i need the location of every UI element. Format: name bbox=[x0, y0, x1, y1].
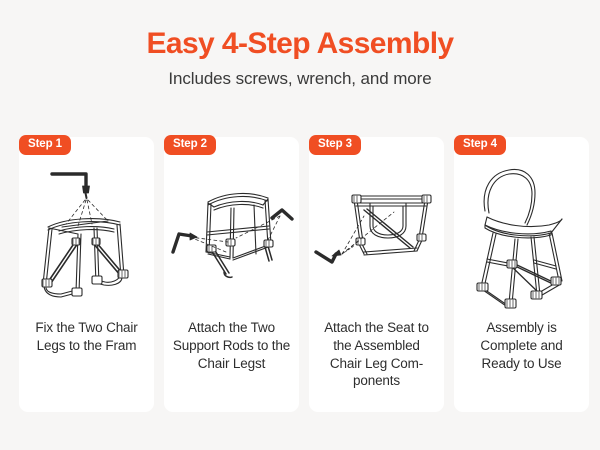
step-card-1[interactable]: Step 1 bbox=[19, 137, 154, 412]
step-card-3[interactable]: Step 3 bbox=[309, 137, 444, 412]
step-badge-2: Step 2 bbox=[164, 135, 216, 155]
header: Easy 4-Step Assembly Includes screws, wr… bbox=[0, 0, 600, 89]
step-badge-3: Step 3 bbox=[309, 135, 361, 155]
step-caption-2: Attach the Two Support Rods to the Chair… bbox=[164, 319, 299, 372]
step-badge-1: Step 1 bbox=[19, 135, 71, 155]
chair-frame-with-allen-key-above-icon bbox=[28, 164, 146, 314]
step-badge-4: Step 4 bbox=[454, 135, 506, 155]
page-subtitle: Includes screws, wrench, and more bbox=[0, 69, 600, 89]
step-card-2[interactable]: Step 2 bbox=[164, 137, 299, 412]
step-illustration-4 bbox=[454, 137, 589, 319]
step-caption-4: Assembly is Complete and Ready to Use bbox=[454, 319, 589, 372]
step-illustration-2 bbox=[164, 137, 299, 319]
inverted-chair-base-with-wrench-icon bbox=[312, 176, 442, 302]
step-caption-1: Fix the Two Chair Legs to the Fram bbox=[19, 319, 154, 355]
finished-chair-icon bbox=[463, 163, 581, 315]
assembly-instructions-page: Easy 4-Step Assembly Includes screws, wr… bbox=[0, 0, 600, 450]
chair-frame-with-two-side-wrenches-icon bbox=[168, 174, 296, 304]
step-caption-3: Attach the Seat to the Assembled Chair L… bbox=[309, 319, 444, 390]
step-cards-row: Step 1 bbox=[19, 137, 589, 412]
step-illustration-1 bbox=[19, 137, 154, 319]
page-title: Easy 4-Step Assembly bbox=[0, 27, 600, 60]
step-card-4[interactable]: Step 4 bbox=[454, 137, 589, 412]
step-illustration-3 bbox=[309, 137, 444, 319]
